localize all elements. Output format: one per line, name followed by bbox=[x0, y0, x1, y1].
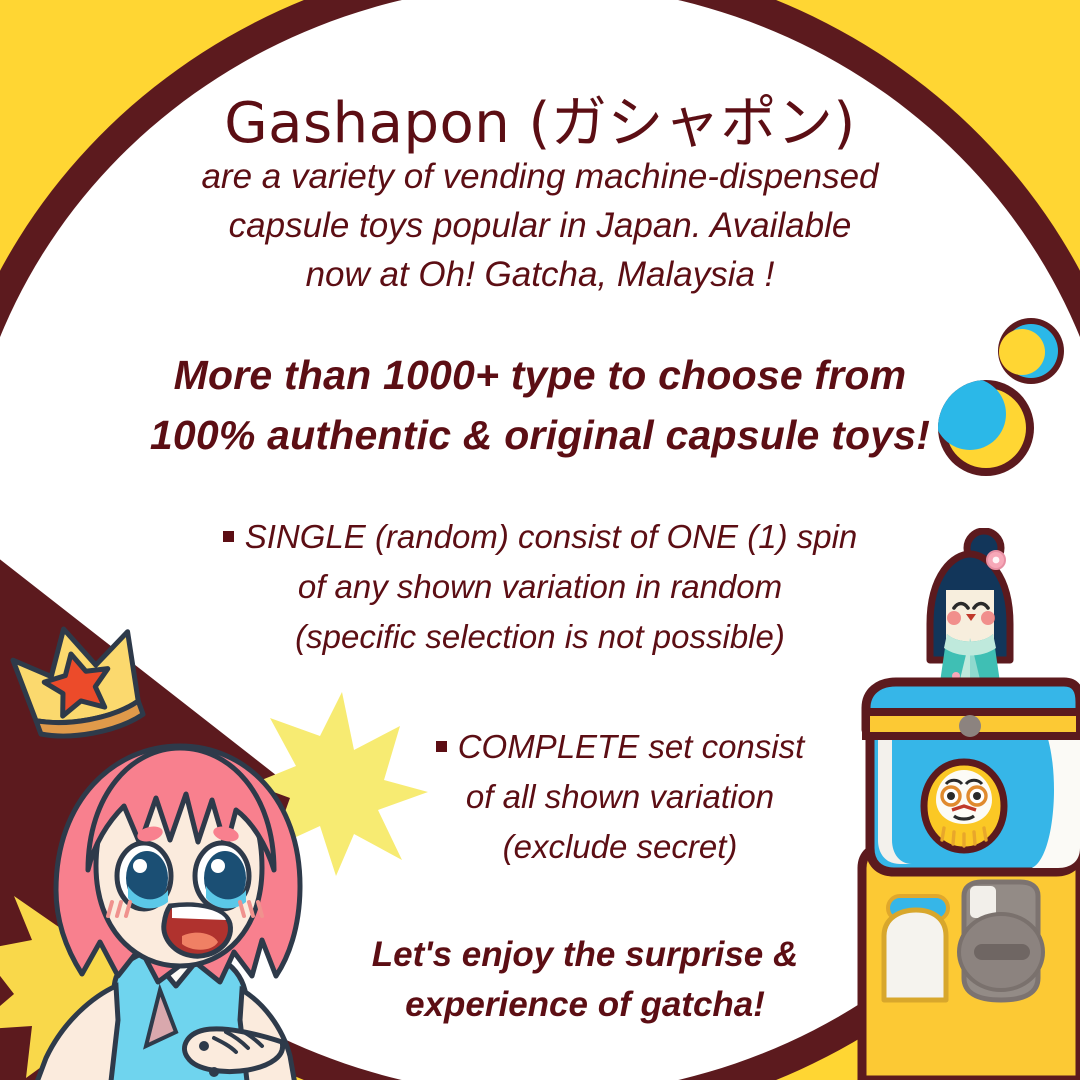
promo-line-2: 100% authentic & original capsule toys! bbox=[0, 405, 1080, 465]
intro-line-3: now at Oh! Gatcha, Malaysia ! bbox=[0, 250, 1080, 299]
complete-line-2: of all shown variation bbox=[160, 772, 1080, 822]
bullet-square-icon bbox=[436, 741, 447, 752]
bullet-square-icon bbox=[223, 531, 234, 542]
closing-line-2: experience of gatcha! bbox=[90, 980, 1080, 1030]
single-line-1-text: SINGLE (random) consist of ONE (1) spin bbox=[245, 518, 858, 555]
closing-message: Let's enjoy the surprise & experience of… bbox=[0, 930, 1080, 1030]
intro-line-2: capsule toys popular in Japan. Available bbox=[0, 201, 1080, 250]
intro-paragraph: are a variety of vending machine-dispens… bbox=[0, 152, 1080, 299]
page-title: Gashapon (ガシャポン) bbox=[0, 78, 1080, 159]
complete-line-1-text: COMPLETE set consist bbox=[458, 728, 805, 765]
closing-line-1: Let's enjoy the surprise & bbox=[90, 930, 1080, 980]
promo-line-1: More than 1000+ type to choose from bbox=[0, 345, 1080, 405]
complete-option-block: COMPLETE set consist of all shown variat… bbox=[0, 722, 1080, 872]
single-line-1: SINGLE (random) consist of ONE (1) spin bbox=[0, 512, 1080, 562]
intro-line-1: are a variety of vending machine-dispens… bbox=[0, 152, 1080, 201]
promo-headline: More than 1000+ type to choose from 100%… bbox=[0, 345, 1080, 465]
poster-canvas: Gashapon (ガシャポン) are a variety of vendin… bbox=[0, 0, 1080, 1080]
single-option-block: SINGLE (random) consist of ONE (1) spin … bbox=[0, 512, 1080, 662]
single-line-3: (specific selection is not possible) bbox=[0, 612, 1080, 662]
complete-line-1: COMPLETE set consist bbox=[160, 722, 1080, 772]
complete-line-3: (exclude secret) bbox=[160, 822, 1080, 872]
single-line-2: of any shown variation in random bbox=[0, 562, 1080, 612]
poster-text-content: Gashapon (ガシャポン) are a variety of vendin… bbox=[0, 0, 1080, 1080]
